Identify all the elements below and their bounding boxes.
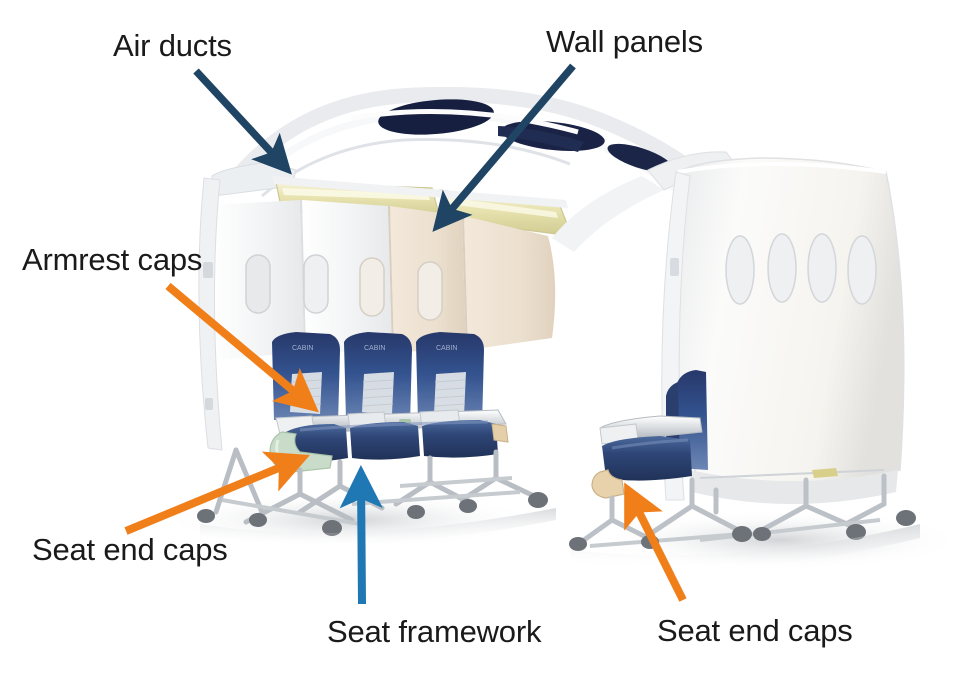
- left-post-fitting: [203, 262, 213, 278]
- seat-cushion-3: [422, 420, 498, 458]
- window-right-4: [848, 236, 876, 304]
- seat-pocket-3: [434, 372, 466, 416]
- window-right-1: [726, 236, 754, 304]
- window-right-3: [808, 234, 836, 302]
- label-armrest-caps: Armrest caps: [22, 244, 202, 275]
- label-air-ducts: Air ducts: [113, 30, 232, 61]
- wall-panel-beige-b: [464, 216, 555, 350]
- figure-canvas: CABIN CABIN CABIN: [0, 0, 977, 693]
- seat-logo-1: CABIN: [292, 345, 313, 352]
- seat-logo-3: CABIN: [436, 345, 457, 352]
- window-left-1: [246, 255, 270, 313]
- window-left-4: [418, 262, 442, 320]
- cabin-mockup-photograph: CABIN CABIN CABIN: [0, 0, 977, 693]
- arch-transition-right: [552, 176, 664, 252]
- left-post-fitting-2: [205, 398, 213, 410]
- seat-logo-2: CABIN: [364, 345, 385, 352]
- seat-pocket-2: [362, 372, 394, 414]
- right-post-fitting-1: [670, 258, 679, 276]
- label-seat-framework: Seat framework: [327, 616, 541, 647]
- seat-end-cap-tan-right: [492, 424, 508, 442]
- label-seat-end-caps-right: Seat end caps: [657, 615, 853, 646]
- seat-pocket-1: [290, 372, 322, 414]
- window-right-2: [768, 234, 796, 302]
- label-seat-end-caps-left: Seat end caps: [32, 534, 228, 565]
- seat-cushion-2: [350, 422, 420, 460]
- window-left-2: [304, 255, 328, 313]
- label-wall-panels: Wall panels: [546, 26, 703, 57]
- window-left-3: [360, 258, 384, 316]
